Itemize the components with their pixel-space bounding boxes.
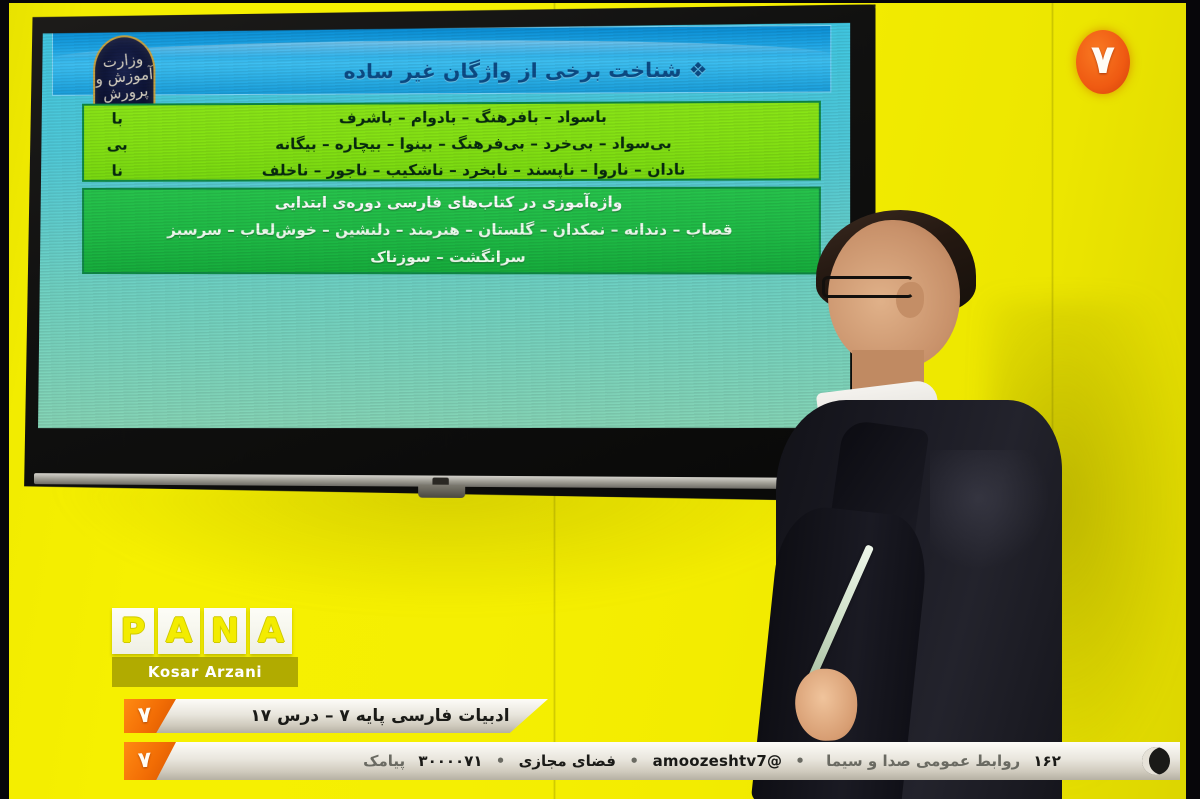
prefix-key: نا	[94, 162, 140, 180]
contact-separator: •	[621, 752, 647, 770]
pana-letters: P A N A	[112, 608, 298, 654]
ticker-logo-glyph: ۷	[137, 702, 152, 728]
contact-item: ۱۶۲	[1033, 752, 1060, 770]
contact-info-ticker: ۷ ۱۶۲ روابط عمومی صدا و سیما • @amoozesh…	[124, 742, 1180, 780]
pana-letter: A	[250, 608, 292, 654]
crescent-moon-icon	[1142, 747, 1170, 775]
pana-bug: P A N A Kosar Arzani	[112, 608, 298, 692]
contact-handle: @amoozeshtv7	[653, 752, 782, 770]
presenter-shoulder-highlight	[930, 450, 1050, 570]
contact-separator: •	[787, 752, 813, 770]
prefix-examples: بی‌سواد – بی‌خرد – بی‌فرهنگ – بینوا – بی…	[140, 133, 810, 153]
pana-letter: A	[158, 608, 200, 654]
prefix-table: باسواد – بافرهنگ – بادوام – باشرف با بی‌…	[82, 101, 821, 182]
prefix-examples: باسواد – بافرهنگ – بادوام – باشرف	[140, 107, 810, 128]
pana-letter: N	[204, 608, 246, 654]
table-row: نادان – ناروا – ناپسند – نابخرد – ناشکیب…	[84, 156, 819, 184]
contact-item: فضای مجازی	[519, 752, 616, 770]
letterbox-right	[1186, 0, 1200, 799]
letterbox-left	[0, 0, 9, 799]
prefix-key: با	[94, 110, 140, 128]
emblem-text: وزارت آموزش و پرورش	[93, 51, 155, 104]
presenter	[700, 210, 1100, 799]
presenter-hand	[794, 668, 858, 742]
contact-info-text: ۱۶۲ روابط عمومی صدا و سیما • @amoozeshtv…	[176, 752, 1180, 770]
prefix-key: بی	[94, 136, 140, 154]
presenter-name: Kosar Arzani	[112, 657, 298, 687]
ticker-logo-glyph: ۷	[137, 747, 152, 773]
channel-logo-glyph: ۷	[1091, 40, 1115, 80]
pana-letter: P	[112, 608, 154, 654]
pointer-stick	[806, 544, 874, 684]
table-row: باسواد – بافرهنگ – بادوام – باشرف با	[84, 103, 819, 132]
broadcast-frame: ❖ شناخت برخی از واژگان غیر ساده وزارت آم…	[0, 0, 1200, 799]
contact-item: روابط عمومی صدا و سیما	[818, 752, 1028, 770]
prefix-examples: نادان – ناروا – ناپسند – نابخرد – ناشکیب…	[140, 160, 810, 180]
slide-header: ❖ شناخت برخی از واژگان غیر ساده	[52, 25, 831, 96]
contact-item: پیامک	[355, 752, 413, 770]
table-row: بی‌سواد – بی‌خرد – بی‌فرهنگ – بینوا – بی…	[84, 129, 819, 157]
letterbox-top	[0, 0, 1200, 3]
contact-separator: •	[488, 752, 514, 770]
channel-logo-icon: ۷	[1076, 30, 1130, 94]
slide-title: ❖ شناخت برخی از واژگان غیر ساده	[344, 57, 708, 83]
lesson-title-text: ادبیات فارسی پایه ۷ – درس ۱۷	[176, 706, 548, 726]
ticker-logo-mark-icon: ۷	[124, 699, 176, 733]
ticker-logo-mark-icon: ۷	[124, 742, 176, 780]
contact-number: ۳۰۰۰۰۷۱	[418, 752, 482, 770]
glasses-icon	[822, 276, 914, 298]
tv-stand	[418, 485, 465, 498]
lesson-title-ticker: ۷ ادبیات فارسی پایه ۷ – درس ۱۷	[124, 699, 548, 733]
